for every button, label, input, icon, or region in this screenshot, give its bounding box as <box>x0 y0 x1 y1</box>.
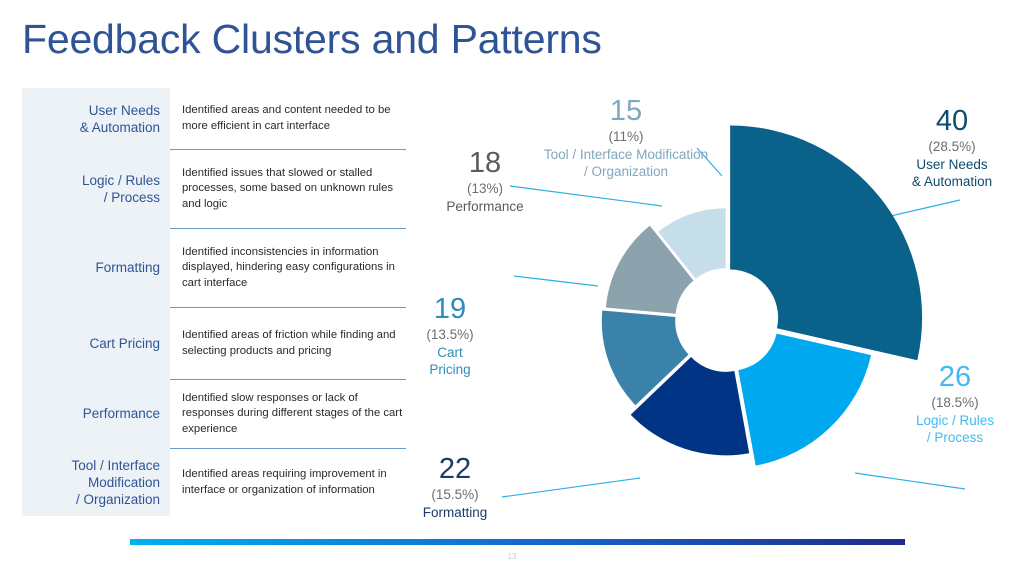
page-number: 13 <box>0 552 1024 561</box>
cluster-label-tool-interface: Tool / Interface Modification / Organiza… <box>22 448 170 516</box>
callout-cart-pricing: 19 (13.5%) Cart Pricing <box>394 292 506 378</box>
callout-category: Formatting <box>392 504 518 521</box>
callout-value: 26 <box>886 360 1024 394</box>
table-row: Tool / Interface Modification / Organiza… <box>22 448 406 516</box>
callout-tool-interface: 15 (11%) Tool / Interface Modification /… <box>520 94 732 180</box>
callout-percent: (13.5%) <box>394 326 506 344</box>
callout-category: User Needs <box>880 156 1024 173</box>
table-row: Performance Identified slow responses or… <box>22 379 406 448</box>
cluster-table: User Needs & Automation Identified areas… <box>22 88 406 516</box>
label-line: Formatting <box>95 259 160 276</box>
footer-accent-bar <box>130 539 905 545</box>
callout-category: & Automation <box>880 173 1024 190</box>
leader-line-logic-rules <box>855 473 965 489</box>
callout-value: 15 <box>520 94 732 128</box>
cluster-label-cart-pricing: Cart Pricing <box>22 307 170 379</box>
cluster-label-user-needs: User Needs & Automation <box>22 88 170 149</box>
cluster-label-formatting: Formatting <box>22 228 170 307</box>
callout-category: Performance <box>420 198 550 215</box>
label-line: Logic / Rules <box>82 173 160 188</box>
callout-user-needs: 40 (28.5%) User Needs & Automation <box>880 104 1024 190</box>
table-row: User Needs & Automation Identified areas… <box>22 88 406 149</box>
leader-line-cart-pricing <box>514 276 598 286</box>
callout-value: 22 <box>392 452 518 486</box>
callout-category: Pricing <box>394 361 506 378</box>
cluster-label-logic-rules: Logic / Rules / Process <box>22 149 170 228</box>
cluster-description: Identified inconsistencies in informatio… <box>170 228 406 307</box>
cluster-description: Identified areas of friction while findi… <box>170 307 406 379</box>
label-line: Modification <box>88 475 160 490</box>
cluster-description: Identified areas requiring improvement i… <box>170 448 406 516</box>
table-row: Formatting Identified inconsistencies in… <box>22 228 406 307</box>
table-row: Cart Pricing Identified areas of frictio… <box>22 307 406 379</box>
callout-category: Logic / Rules <box>886 412 1024 429</box>
cluster-label-performance: Performance <box>22 379 170 448</box>
callout-value: 40 <box>880 104 1024 138</box>
callout-category: / Organization <box>520 163 732 180</box>
cluster-description: Identified areas and content needed to b… <box>170 88 406 149</box>
label-line: Cart Pricing <box>89 335 160 352</box>
callout-percent: (18.5%) <box>886 394 1024 412</box>
callout-percent: (15.5%) <box>392 486 518 504</box>
callout-formatting: 22 (15.5%) Formatting <box>392 452 518 521</box>
label-line: Performance <box>83 405 160 422</box>
label-line: / Process <box>104 190 160 205</box>
label-line: / Organization <box>76 492 160 507</box>
callout-value: 19 <box>394 292 506 326</box>
page-title: Feedback Clusters and Patterns <box>22 16 602 63</box>
cluster-description: Identified issues that slowed or stalled… <box>170 149 406 228</box>
callout-category: Cart <box>394 344 506 361</box>
rose-slice-logic-rules[interactable] <box>738 334 871 466</box>
callout-category: Tool / Interface Modification <box>520 146 732 163</box>
cluster-description: Identified slow responses or lack of res… <box>170 379 406 448</box>
callout-percent: (11%) <box>520 128 732 146</box>
label-line: & Automation <box>80 120 160 135</box>
label-line: User Needs <box>89 103 160 118</box>
callout-logic-rules: 26 (18.5%) Logic / Rules / Process <box>886 360 1024 446</box>
leader-line-formatting <box>502 478 640 497</box>
label-line: Tool / Interface <box>71 458 160 473</box>
callout-category: / Process <box>886 429 1024 446</box>
table-row: Logic / Rules / Process Identified issue… <box>22 149 406 228</box>
callout-percent: (28.5%) <box>880 138 1024 156</box>
callout-percent: (13%) <box>420 180 550 198</box>
